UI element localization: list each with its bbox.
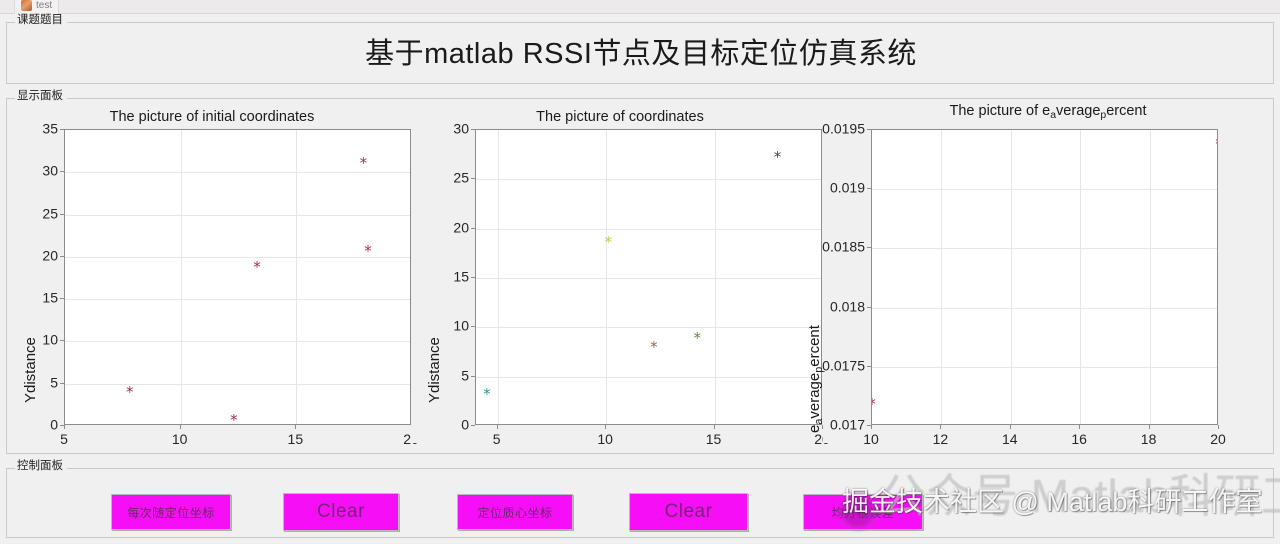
gridline-horizontal [476,179,821,180]
y-axis-tick-label: 0.019 [809,181,865,196]
y-tickmark [867,307,871,308]
x-tickmark [295,425,296,429]
page-title: 基于matlab RSSI节点及目标定位仿真系统 [7,37,1275,71]
y-axis-tick-label: 5 [2,375,58,390]
btn-random-locate-coords-label: 每次随定位坐标 [127,504,215,521]
x-axis-tick-label: 5 [493,432,501,447]
gridline-vertical [715,130,716,424]
control-panel-label: 控制面板 [15,460,67,473]
data-point-marker: * [357,157,370,170]
display-panel-label: 显示面板 [15,90,67,103]
btn-clear-1[interactable]: Clear [283,493,399,531]
x-tickmark [1149,425,1150,429]
y-axis-tick-label: 0.017 [809,418,865,433]
y-tickmark [867,188,871,189]
gridline-horizontal [476,229,821,230]
y-tickmark [60,214,64,215]
y-tickmark [471,326,475,327]
gridline-horizontal [872,189,1217,190]
display-panel: 显示面板 The picture of initial coordinates … [6,98,1274,454]
data-point-marker: * [480,388,493,401]
y-tickmark [867,129,871,130]
gridline-vertical [1150,130,1151,424]
data-point-marker: * [771,151,784,164]
y-axis-tick-label: 20 [2,248,58,263]
gridline-horizontal [65,172,410,173]
gridline-vertical [1080,130,1081,424]
y-axis-tick-label: 20 [413,220,469,235]
y-axis-tick-label: 25 [2,206,58,221]
title-panel: 课题题目 基于matlab RSSI节点及目标定位仿真系统 [6,22,1274,84]
gridline-vertical [296,130,297,424]
y-tickmark [471,178,475,179]
axes3-title-prefix: The picture of e [949,103,1050,119]
x-axis-tick-label: 5 [60,432,68,447]
axes3-title: The picture of eaveragepercent [823,103,1273,124]
window-titlebar: test [0,0,1280,14]
x-axis-tick-label: 10 [863,432,879,447]
y-tickmark [60,171,64,172]
gridline-horizontal [65,299,410,300]
axes3-ylabel-mid: verage [806,373,823,419]
axes3-title-suffix: ercent [1106,103,1146,119]
x-axis-tick-label: 12 [933,432,949,447]
axes2-title: The picture of coordinates [411,109,829,125]
axes3-title-mid: verage [1056,103,1100,119]
gridline-horizontal [65,257,410,258]
y-axis-tick-label: 0.0195 [809,122,865,137]
y-axis-tick-label: 0.018 [809,299,865,314]
matlab-gui-window: test 课题题目 基于matlab RSSI节点及目标定位仿真系统 显示面板 … [0,0,1280,544]
y-tickmark [471,376,475,377]
data-point-marker: * [871,398,879,411]
btn-clear-2[interactable]: Clear [629,493,748,531]
data-point-marker: * [227,414,240,425]
x-axis-tick-label: 20 [1210,432,1226,447]
y-axis-tick-label: 15 [413,270,469,285]
x-axis-tick-label: 18 [1141,432,1157,447]
data-point-marker: * [1213,138,1219,151]
x-tickmark [64,425,65,429]
x-tickmark [180,425,181,429]
data-point-marker: * [123,386,136,399]
x-axis-tick-label: 15 [706,432,722,447]
x-tickmark [940,425,941,429]
y-axis-tick-label: 30 [2,164,58,179]
y-tickmark [60,129,64,130]
y-axis-tick-label: 15 [2,291,58,306]
y-tickmark [60,383,64,384]
y-axis-tick-label: 0 [2,418,58,433]
y-axis-tick-label: 35 [2,122,58,137]
btn-rmse[interactable]: 均方根误差 [803,494,923,530]
x-axis-tick-label: 15 [288,432,304,447]
y-axis-tick-label: 0.0175 [809,358,865,373]
y-axis-tick-label: 5 [413,368,469,383]
gridline-horizontal [65,341,410,342]
y-tickmark [60,340,64,341]
y-tickmark [60,298,64,299]
y-axis-tick-label: 10 [2,333,58,348]
y-axis-tick-label: 30 [413,122,469,137]
control-panel: 控制面板 每次随定位坐标Clear定位质心坐标Clear均方根误差 [6,468,1274,538]
gridline-vertical [1011,130,1012,424]
y-tickmark [867,366,871,367]
gridline-horizontal [476,327,821,328]
x-tickmark [605,425,606,429]
y-tickmark [471,425,475,426]
gridline-horizontal [872,308,1217,309]
axes2-plot-area[interactable]: ***** [475,129,822,425]
y-tickmark [471,129,475,130]
data-point-marker: * [251,261,264,274]
document-tab-test[interactable]: test [14,0,59,14]
gridline-vertical [498,130,499,424]
gridline-vertical [941,130,942,424]
gridline-vertical [181,130,182,424]
data-point-marker: * [602,236,615,249]
y-tickmark [867,247,871,248]
gridline-horizontal [65,215,410,216]
btn-clear-2-label: Clear [665,501,713,523]
document-tab-label: test [36,0,52,11]
axes-average-percent: The picture of eaveragepercent eaveragep… [823,103,1273,443]
gridline-horizontal [872,367,1217,368]
data-point-marker: * [691,332,704,345]
btn-centroid-coords[interactable]: 定位质心坐标 [457,494,573,530]
data-point-marker: * [647,341,660,354]
gridline-vertical [606,130,607,424]
y-tickmark [60,256,64,257]
gridline-horizontal [476,377,821,378]
x-axis-tick-label: 10 [597,432,613,447]
y-axis-tick-label: 10 [413,319,469,334]
y-axis-tick-label: 25 [413,171,469,186]
btn-random-locate-coords[interactable]: 每次随定位坐标 [111,494,231,530]
axes1-plot-area[interactable]: ***** [64,129,411,425]
btn-centroid-coords-label: 定位质心坐标 [477,504,552,521]
gridline-horizontal [872,248,1217,249]
x-axis-tick-label: 16 [1071,432,1087,447]
x-axis-tick-label: 14 [1002,432,1018,447]
x-tickmark [497,425,498,429]
y-axis-tick-label: 0 [413,418,469,433]
axes1-title: The picture of initial coordinates [7,109,417,125]
x-tickmark [714,425,715,429]
gridline-horizontal [65,384,410,385]
y-tickmark [471,228,475,229]
y-axis-tick-label: 0.0185 [809,240,865,255]
x-tickmark [1079,425,1080,429]
matlab-icon [21,0,32,11]
axes3-plot-area[interactable]: ** [871,129,1218,425]
title-panel-label: 课题题目 [15,14,67,27]
x-tickmark [871,425,872,429]
x-axis-tick-label: 10 [172,432,188,447]
x-tickmark [1218,425,1219,429]
gridline-horizontal [476,278,821,279]
axes-initial-coordinates: The picture of initial coordinates Ydist… [7,103,417,443]
y-tickmark [471,277,475,278]
x-tickmark [1010,425,1011,429]
btn-rmse-label: 均方根误差 [832,504,895,521]
axes-coordinates: The picture of coordinates Ydistance ***… [411,103,829,443]
btn-clear-1-label: Clear [317,501,365,523]
